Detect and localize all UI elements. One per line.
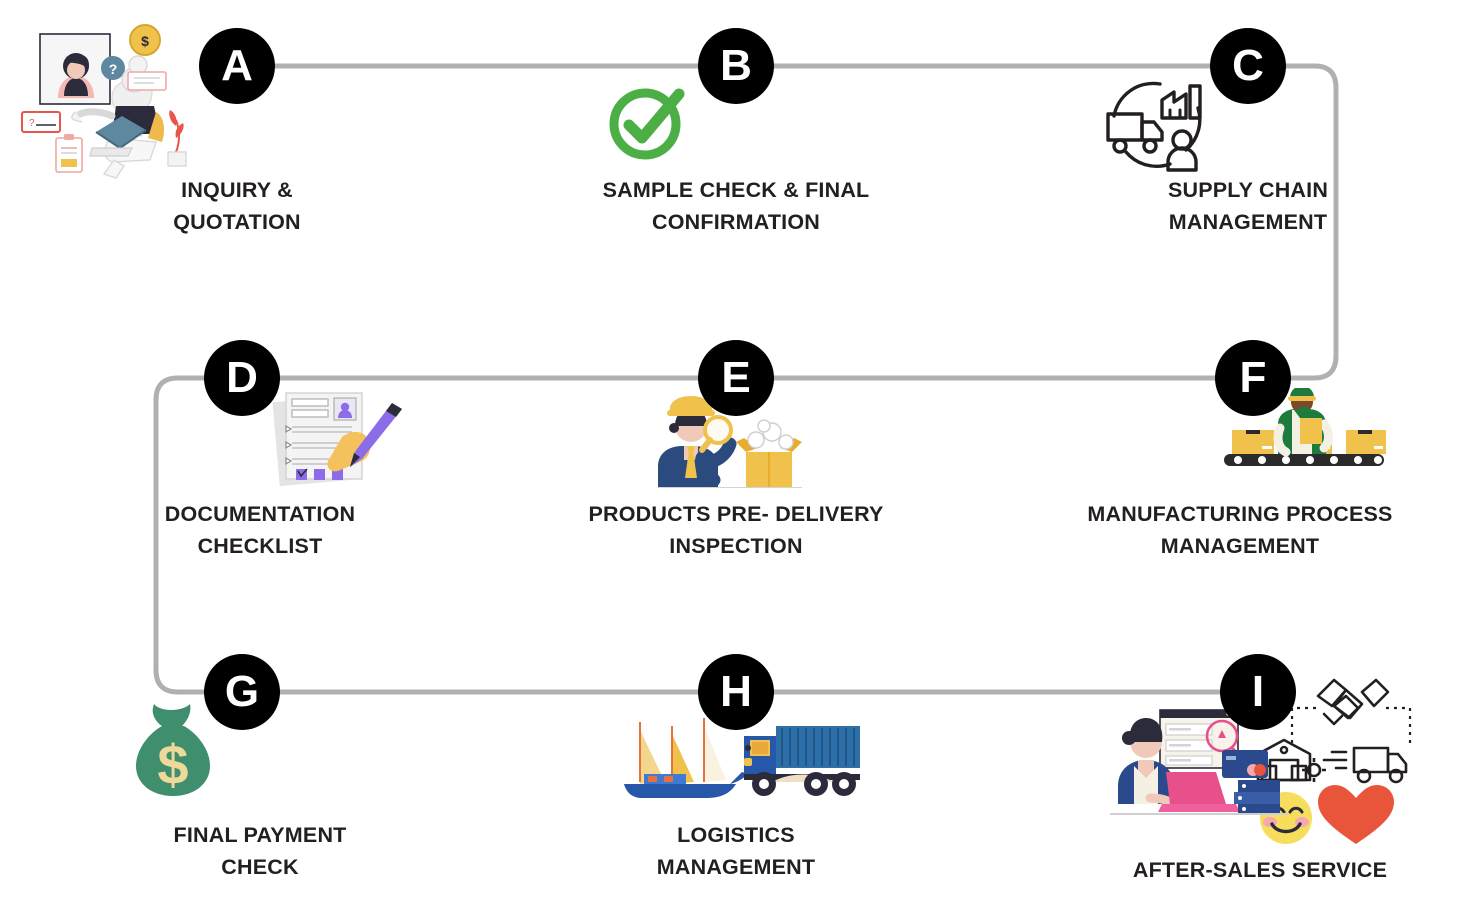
step-label-b: SAMPLE CHECK & FINAL CONFIRMATION [566,175,906,239]
svg-text:?: ? [109,61,118,77]
step-label-e: PRODUCTS PRE- DELIVERY INSPECTION [561,499,911,563]
step-badge-f[interactable]: F [1215,340,1291,416]
supply-chain-icon [1098,78,1216,176]
step-badge-b[interactable]: B [698,28,774,104]
money-bag-illustration: $ [128,698,218,798]
step-label-a: INQUIRY & QUOTATION [117,175,357,239]
inquiry-illustration: $ ? ? [18,20,198,180]
step-badge-a[interactable]: A [199,28,275,104]
step-badge-d[interactable]: D [204,340,280,416]
step-label-c: SUPPLY CHAIN MANAGEMENT [1098,175,1398,239]
svg-text:?: ? [29,118,35,129]
step-badge-h[interactable]: H [698,654,774,730]
step-label-f: MANUFACTURING PROCESS MANAGEMENT [1040,499,1440,563]
step-label-d: DOCUMENTATION CHECKLIST [120,499,400,563]
green-check-circle-icon [603,82,695,166]
step-label-h: LOGISTICS MANAGEMENT [596,820,876,884]
documentation-checklist-illustration [272,385,406,489]
process-flow-diagram: $ ? ? [0,0,1466,914]
step-badge-g[interactable]: G [204,654,280,730]
step-badge-c[interactable]: C [1210,28,1286,104]
step-label-i: AFTER-SALES SERVICE [1090,855,1430,887]
svg-text:$: $ [141,33,149,49]
step-label-g: FINAL PAYMENT CHECK [120,820,400,884]
step-badge-i[interactable]: I [1220,654,1296,730]
svg-text:$: $ [157,733,188,796]
step-badge-e[interactable]: E [698,340,774,416]
